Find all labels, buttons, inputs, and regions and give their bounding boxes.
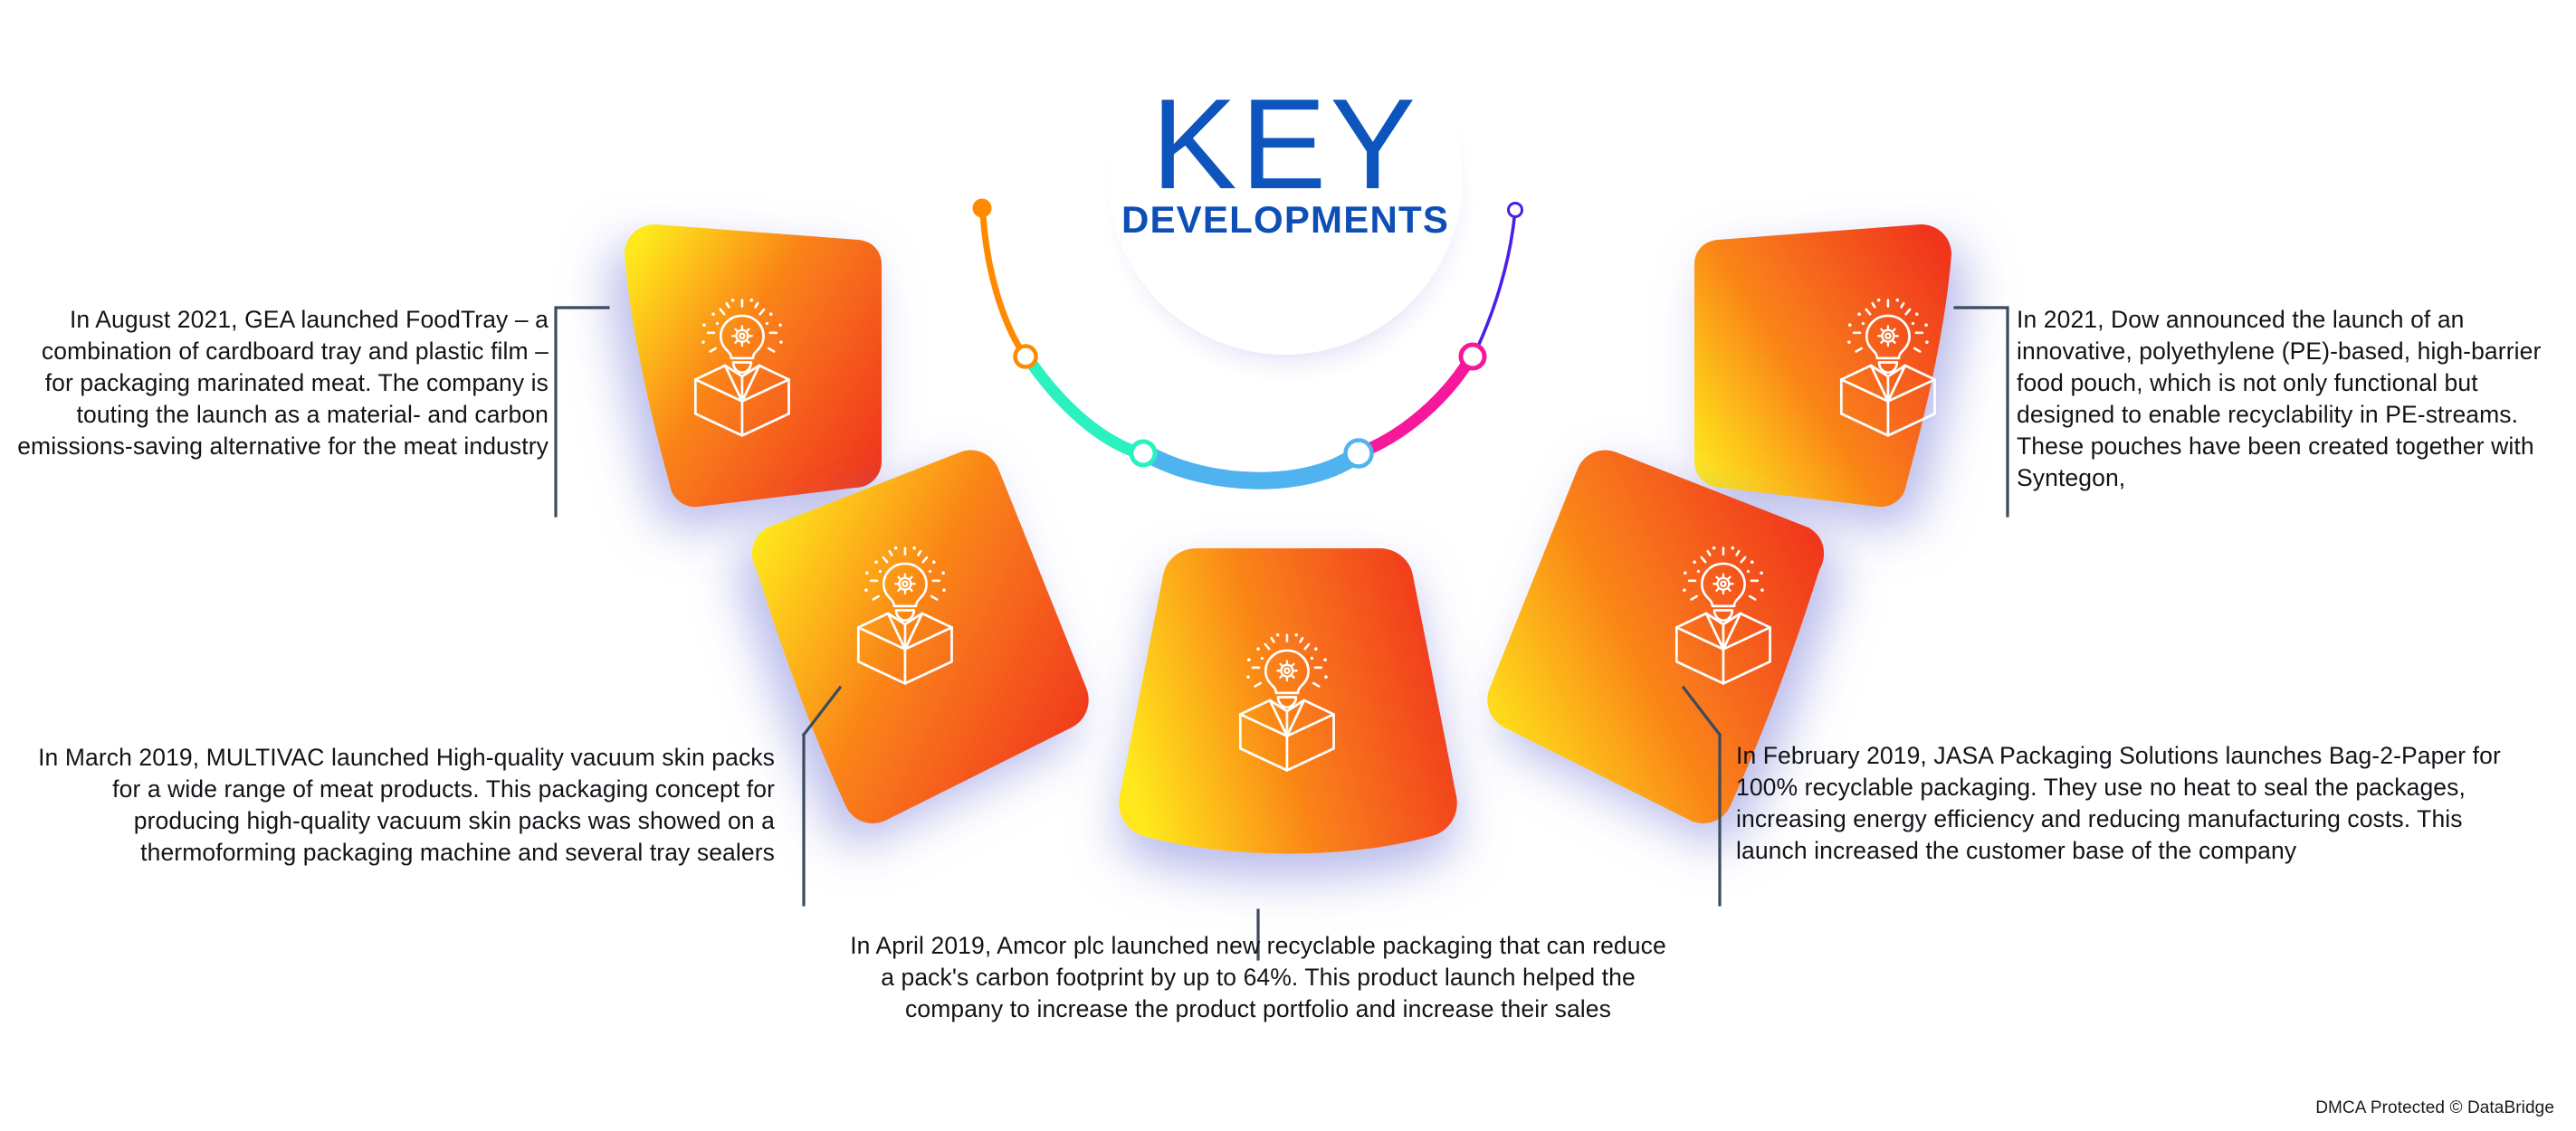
page-title: KEY DEVELOPMENTS [1041,86,1530,239]
arc-node-teal[interactable] [1131,442,1155,465]
petal-bottom-center[interactable] [1119,548,1457,854]
arc-segment-pink [1365,362,1468,451]
arc-node-blue[interactable] [1346,441,1372,467]
connector-note-tl [556,308,608,516]
arc-node-orange-tip[interactable] [973,199,992,218]
note-gea-foodtray: In August 2021, GEA launched FoodTray – … [9,304,549,462]
note-multivac-vacuum-skin: In March 2019, MULTIVAC launched High-qu… [27,742,775,869]
petal-top-left[interactable] [625,224,882,507]
petal-top-right[interactable] [1694,224,1951,507]
arc-node-orange[interactable] [1016,347,1036,367]
arc-segment-orange [983,214,1023,353]
infographic-canvas: KEY DEVELOPMENTS In August 2021, GEA lau… [0,0,2576,1131]
note-jasa-bag2paper: In February 2019, JASA Packaging Solutio… [1736,740,2533,867]
note-dow-pe-pouch: In 2021, Dow announced the launch of an … [2017,304,2576,494]
arc-segment-blue [1151,456,1352,480]
title-line-developments: DEVELOPMENTS [1041,201,1530,239]
copyright-footer: DMCA Protected © DataBridge [2315,1098,2554,1118]
note-amcor-recyclable: In April 2019, Amcor plc launched new re… [842,930,1674,1025]
arc-segment-teal [1032,364,1137,452]
connector-note-tr [1955,308,2008,516]
title-line-key: KEY [1041,86,1530,204]
arc-node-pink[interactable] [1461,345,1484,368]
